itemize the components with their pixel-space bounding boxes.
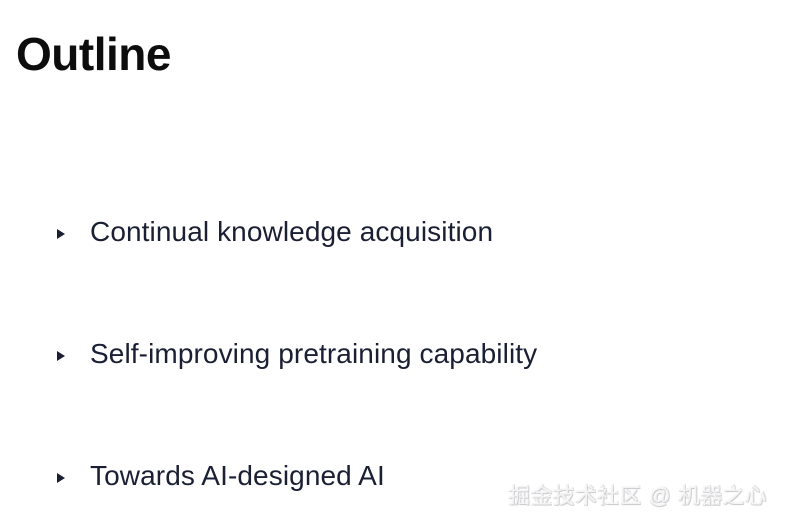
outline-item-label: Towards AI-designed AI bbox=[90, 458, 385, 494]
page-title: Outline bbox=[16, 27, 171, 82]
triangle-right-icon bbox=[57, 351, 65, 361]
outline-list: Continual knowledge acquisition Self-imp… bbox=[0, 214, 811, 530]
outline-item-label: Self-improving pretraining capability bbox=[90, 336, 537, 372]
presentation-slide: Outline Continual knowledge acquisition … bbox=[0, 0, 811, 530]
list-item: Continual knowledge acquisition bbox=[0, 214, 811, 336]
triangle-right-icon bbox=[57, 229, 65, 239]
list-item: Self-improving pretraining capability bbox=[0, 336, 811, 458]
list-item: Towards AI-designed AI bbox=[0, 458, 811, 530]
outline-item-label: Continual knowledge acquisition bbox=[90, 214, 493, 250]
triangle-right-icon bbox=[57, 473, 65, 483]
